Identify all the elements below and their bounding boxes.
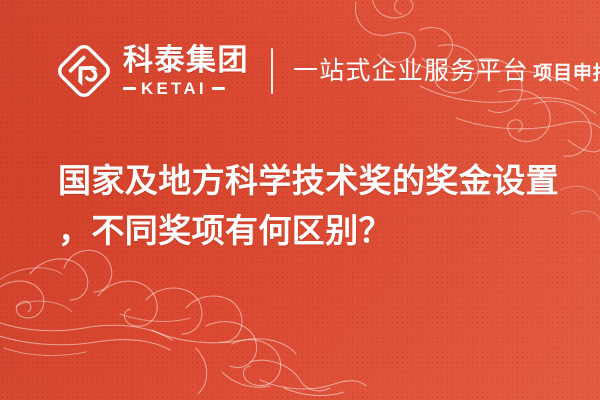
header-divider xyxy=(271,48,273,94)
brand-name-cn: 科泰集团 xyxy=(123,44,249,77)
page-title: 国家及地方科学技术奖的奖金设置 ，不同奖项有何区别？ xyxy=(58,156,558,256)
slogan-main: 一站式企业服务平台 xyxy=(293,57,529,85)
ketai-diamond-kp-monogram-icon xyxy=(56,43,112,99)
page-title-line-1: 国家及地方科学技术奖的奖金设置 xyxy=(58,156,558,206)
brand-logo[interactable]: 科泰集团 KETAI xyxy=(56,38,249,104)
brand-name-en: KETAI xyxy=(141,80,207,97)
wordmark-dash-right-icon xyxy=(212,87,225,90)
promo-banner: 科泰集团 KETAI 一站式企业服务平台 项目申报 高企认定 国家及地方科学技术… xyxy=(0,0,600,400)
wordmark-dash-left-icon xyxy=(123,87,136,90)
brand-wordmark: 科泰集团 KETAI xyxy=(123,45,249,97)
brand-name-en-row: KETAI xyxy=(123,80,249,97)
page-title-line-2: ，不同奖项有何区别？ xyxy=(58,206,558,256)
slogan-sub: 项目申报 高企认定 xyxy=(533,63,600,84)
banner-header: 科泰集团 KETAI 一站式企业服务平台 项目申报 高企认定 xyxy=(56,38,600,104)
brand-slogan: 一站式企业服务平台 项目申报 高企认定 xyxy=(293,56,600,86)
